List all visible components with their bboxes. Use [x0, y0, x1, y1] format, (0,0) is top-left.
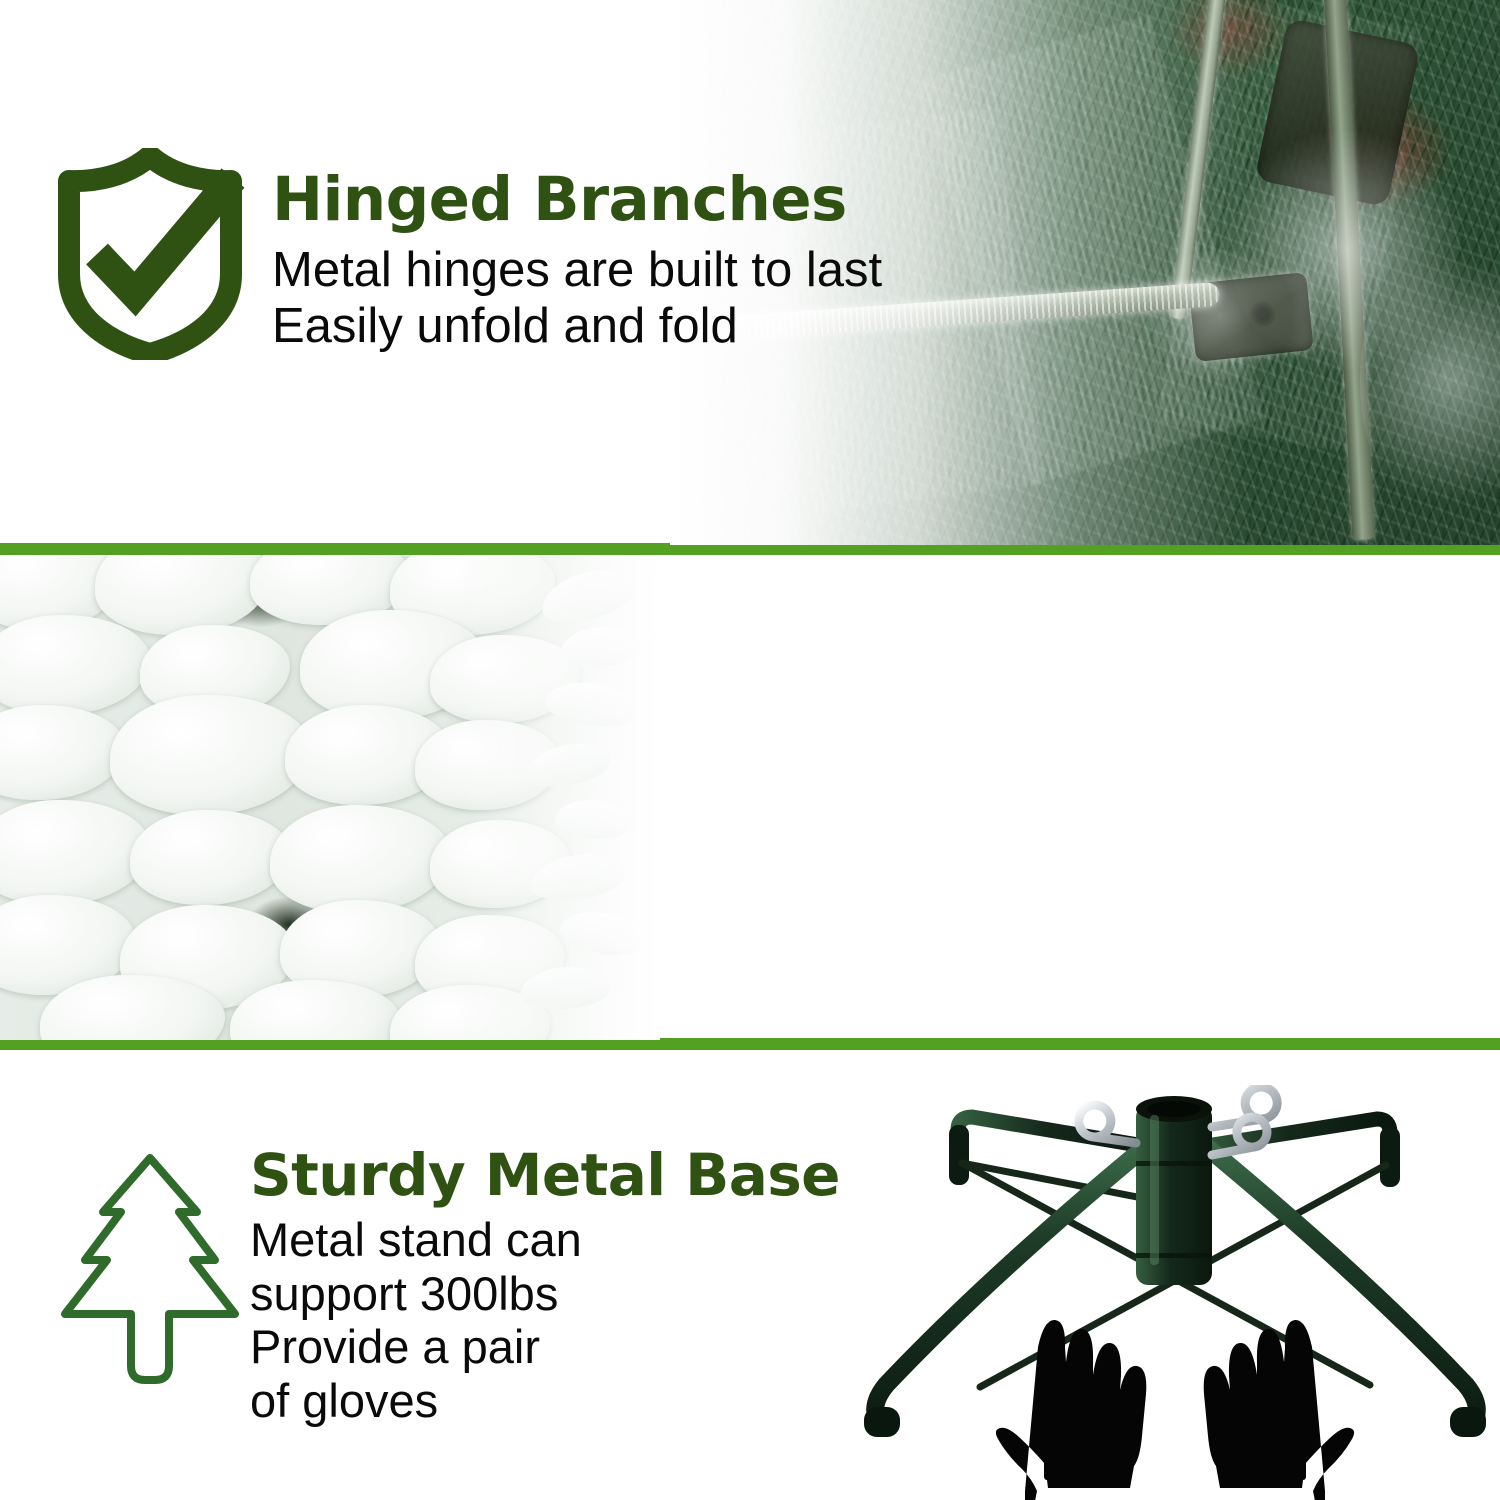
photo-right-fade: [460, 555, 660, 1040]
christmas-tree-outline-icon: [55, 1148, 245, 1403]
section-hinged-branches: Hinged Branches Metal hinges are built t…: [0, 0, 1500, 545]
section-environmental-safe-material: Environmental Safe Material Non-flammabl…: [0, 555, 1500, 1040]
sturdy-metal-base-heading: Sturdy Metal Base: [250, 1145, 840, 1205]
hinged-branches-text-block: Hinged Branches Metal hinges are built t…: [272, 168, 882, 355]
shield-check-icon: [55, 148, 245, 360]
product-feature-infographic: Hinged Branches Metal hinges are built t…: [0, 0, 1500, 1500]
metal-tree-stand-photo: [850, 1085, 1500, 1500]
flocked-tree-photo: [0, 555, 660, 1040]
stand-front-leg-feet: [864, 1407, 1486, 1437]
sturdy-metal-base-body: Metal stand can support 300lbs Provide a…: [250, 1213, 840, 1427]
sturdy-metal-base-text-block: Sturdy Metal Base Metal stand can suppor…: [250, 1145, 840, 1428]
stand-center-socket: [1136, 1096, 1212, 1285]
gloves-pair: [996, 1320, 1354, 1500]
hinged-branches-body: Metal hinges are built to last Easily un…: [272, 243, 882, 355]
hinged-branches-heading: Hinged Branches: [272, 168, 882, 231]
